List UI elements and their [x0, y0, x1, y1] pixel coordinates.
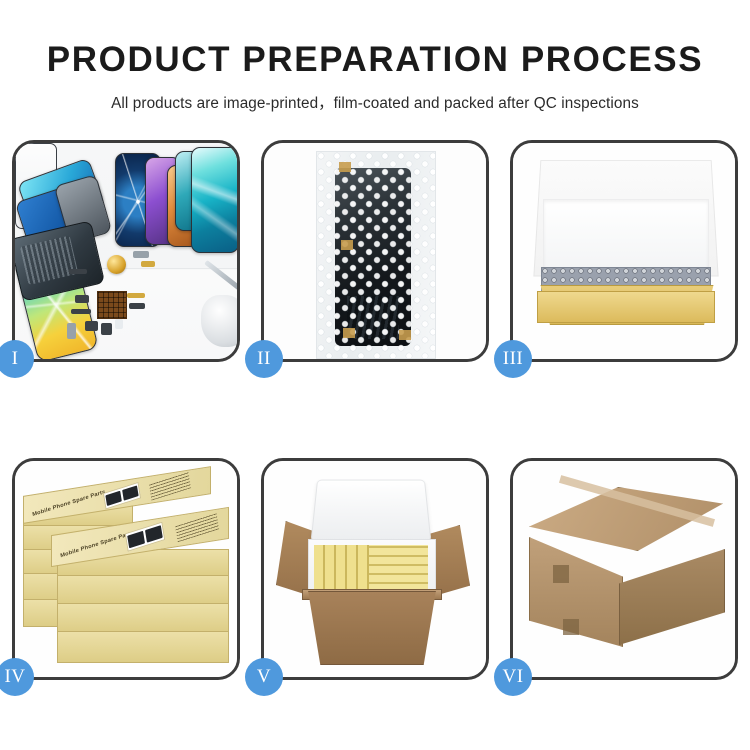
spare-part-camera: [101, 323, 112, 335]
process-step-4[interactable]: Mobile Phone Spare Parts Mobile Phone Sp…: [12, 458, 240, 680]
tape-piece-bottom-left: [343, 328, 355, 338]
shipping-carton-open: [304, 591, 440, 665]
carton-right-face: [619, 549, 725, 645]
kraft-box-front: [537, 291, 715, 323]
step-6-badge: VI: [494, 658, 532, 696]
spare-part-speaker: [85, 321, 98, 331]
box-front-4: [57, 631, 229, 663]
spare-part-battery-cell: [67, 323, 76, 339]
process-step-5[interactable]: V: [261, 458, 489, 680]
carton-tab-upper: [553, 565, 569, 583]
process-step-3[interactable]: III: [510, 140, 738, 362]
step-3-badge: III: [494, 340, 532, 378]
step-4-badge: IV: [0, 658, 34, 696]
spare-part-bracket: [75, 295, 89, 303]
box-front-2: [57, 575, 229, 605]
phone-teal-swirl: [191, 147, 237, 253]
process-step-6[interactable]: VI: [510, 458, 738, 680]
step-5-image: [264, 461, 486, 677]
gloved-hand: [201, 295, 237, 347]
step-1-badge: I: [0, 340, 34, 378]
process-step-1[interactable]: I: [12, 140, 240, 362]
page-subtitle: All products are image-printed，film-coat…: [0, 91, 750, 113]
step-2-badge: II: [245, 340, 283, 378]
step-3-image: [513, 143, 735, 359]
spare-part-button: [115, 319, 123, 329]
foam-case-lid: [311, 480, 432, 542]
wrapped-lcd-screen: [335, 168, 411, 346]
box-label-front: Mobile Phone Spare Parts: [60, 530, 134, 559]
spare-part-connector: [133, 251, 149, 258]
yellow-boxes-inside: [314, 545, 428, 591]
spare-part-strip: [69, 269, 87, 274]
carton-tab-lower: [563, 619, 579, 635]
box-window-front: [125, 522, 166, 552]
vibration-motor-part: [107, 255, 126, 274]
header: PRODUCT PREPARATION PROCESS All products…: [0, 0, 750, 113]
box-front-3: [57, 603, 229, 633]
step-5-badge: V: [245, 658, 283, 696]
tape-piece-top: [339, 162, 351, 172]
foam-sheet: [543, 199, 709, 269]
step-6-image: [513, 461, 735, 677]
page-title: PRODUCT PREPARATION PROCESS: [0, 42, 750, 77]
tape-piece-bottom-right: [399, 330, 411, 340]
tape-piece-middle: [341, 240, 353, 250]
process-step-2[interactable]: II: [261, 140, 489, 362]
box-stack: Mobile Phone Spare Parts Mobile Phone Sp…: [21, 475, 231, 671]
ic-chip-array: [97, 291, 127, 319]
step-2-image: [264, 143, 486, 359]
spare-part-gold-flex: [141, 261, 155, 267]
step-1-image: [15, 143, 237, 359]
tweezers-tool: [204, 260, 237, 291]
box-text-lines-back: [149, 472, 191, 501]
spare-part-gold-strip: [127, 293, 145, 298]
box-text-lines-front: [175, 512, 219, 542]
spare-part-flex-cable: [71, 309, 91, 314]
process-step-grid: I II III: [12, 140, 738, 680]
bubble-wrap-bag: [316, 151, 436, 359]
spare-part-socket: [129, 303, 145, 309]
box-window-back: [103, 482, 141, 510]
step-4-image: Mobile Phone Spare Parts Mobile Phone Sp…: [15, 461, 237, 677]
